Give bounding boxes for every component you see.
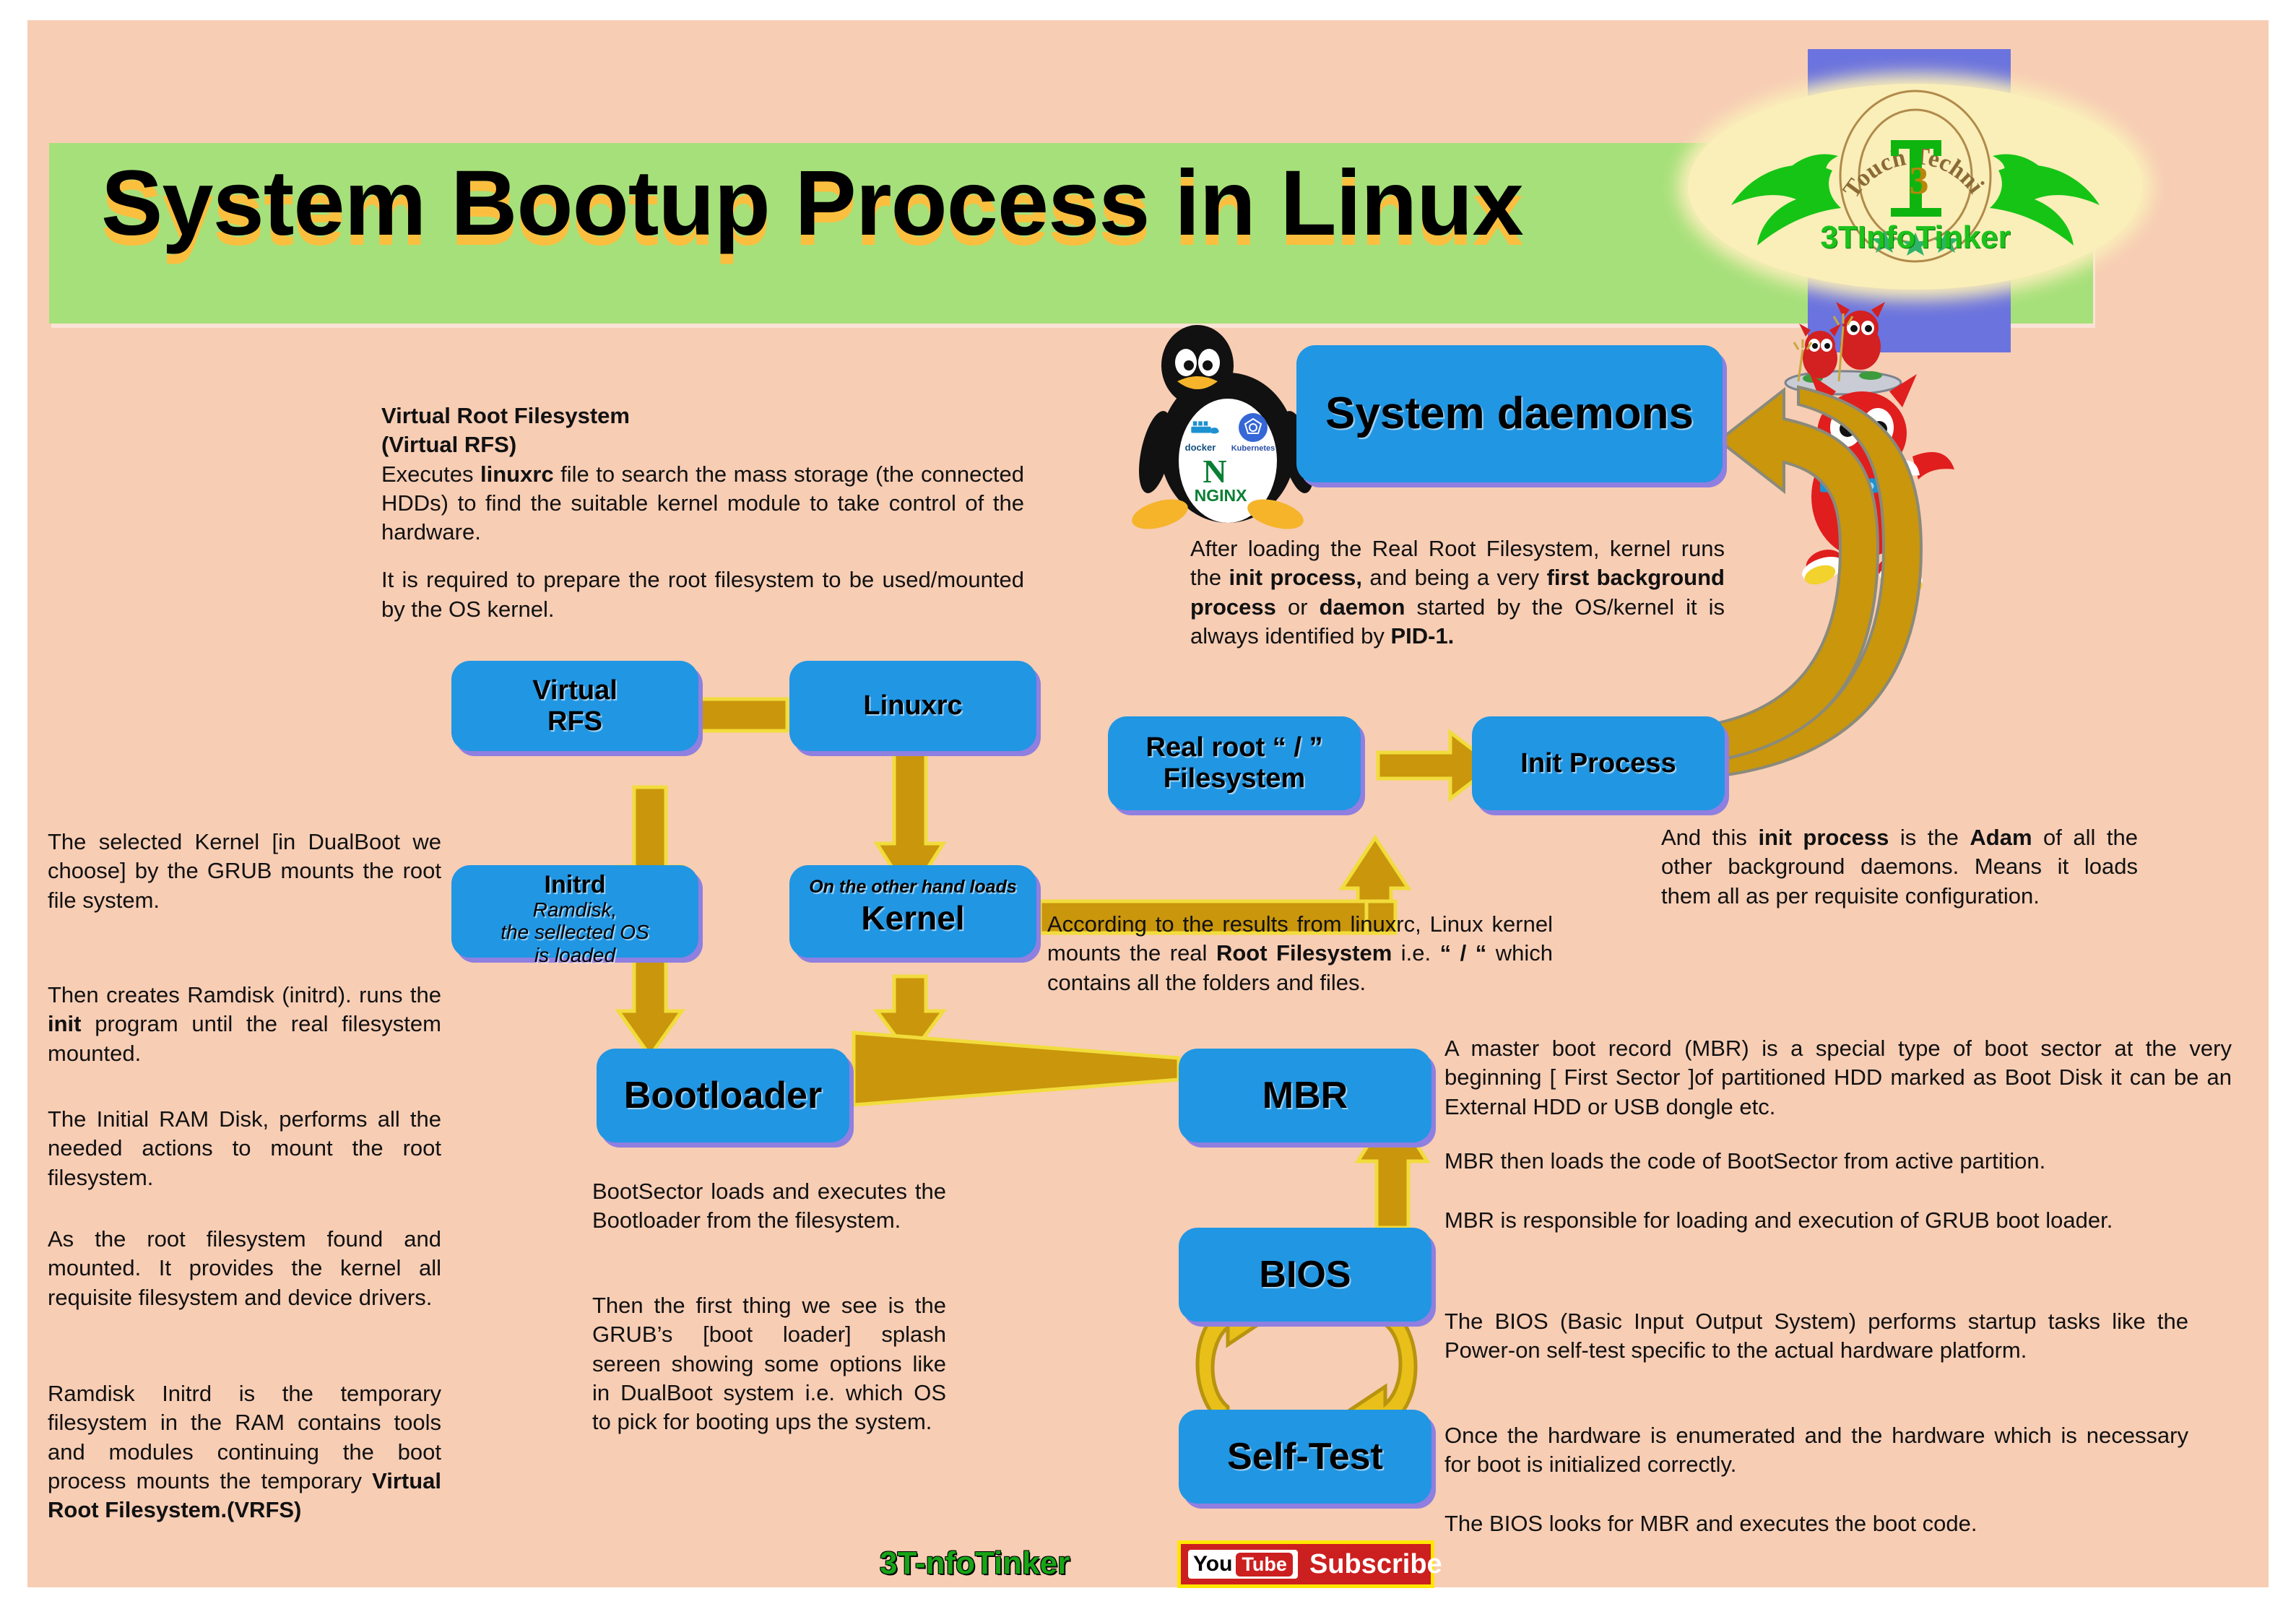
- youtube-tube-text: Tube: [1236, 1553, 1293, 1577]
- text-kernel-mounts-root: According to the results from linuxrc, L…: [1047, 910, 1553, 997]
- text-mbr-p2: MBR then loads the code of BootSector fr…: [1444, 1147, 2232, 1176]
- box-init-process[interactable]: Init Process: [1472, 716, 1725, 810]
- text-mbr-p3: MBR is responsible for loading and execu…: [1444, 1206, 2232, 1235]
- text-bios-p2: Once the hardware is enumerated and the …: [1444, 1421, 2188, 1480]
- nginx-label: NGINX: [1195, 486, 1248, 505]
- box-bios[interactable]: BIOS: [1179, 1228, 1431, 1322]
- logo-brand-text: 3TInfoTinker: [1688, 220, 2143, 256]
- svg-text:3: 3: [1910, 159, 1929, 202]
- text-bios-p3: The BIOS looks for MBR and executes the …: [1444, 1509, 2188, 1538]
- box-virtual-rfs-line1: Virtual: [532, 675, 618, 706]
- text-left-p2: Then creates Ramdisk (initrd). runs the …: [48, 981, 441, 1068]
- box-system-daemons-label: System daemons: [1325, 389, 1694, 438]
- text-vrfs-heading1: Virtual Root Filesystem: [381, 402, 1024, 430]
- box-mbr[interactable]: MBR: [1179, 1049, 1431, 1142]
- box-real-root-line1: Real root “ / ”: [1146, 732, 1323, 763]
- logo-emblem-icon: Tip Touch Techniques 3: [1688, 84, 2143, 290]
- text-mbr-p1: A master boot record (MBR) is a special …: [1444, 1034, 2232, 1122]
- text-left-p4: As the root filesystem found and mounted…: [48, 1225, 441, 1312]
- nginx-n-glyph: N: [1203, 453, 1226, 490]
- box-bootloader-label: Bootloader: [624, 1075, 822, 1116]
- box-bios-label: BIOS: [1259, 1254, 1351, 1296]
- box-self-test-label: Self-Test: [1227, 1436, 1383, 1478]
- youtube-subscribe-button[interactable]: You Tube Subscribe: [1177, 1540, 1434, 1588]
- box-kernel-label: Kernel: [861, 900, 964, 937]
- box-bootloader[interactable]: Bootloader: [597, 1049, 849, 1142]
- box-initrd-title: Initrd: [545, 871, 606, 898]
- text-left-p1: The selected Kernel [in DualBoot we choo…: [48, 828, 441, 915]
- tux-penguin-icon: docker Kubernetes N NGINX: [1134, 325, 1322, 527]
- box-virtual-rfs-line2: RFS: [547, 706, 602, 737]
- page-title: System Bootup Process in Linux: [101, 150, 1523, 256]
- youtube-logo-icon: You Tube: [1188, 1550, 1298, 1579]
- box-initrd-line1: Ramdisk,: [533, 898, 618, 921]
- text-vrfs-p1: Executes linuxrc file to search the mass…: [381, 460, 1024, 547]
- diagram-canvas: System Bootup Process in Linux System Bo…: [0, 0, 2296, 1622]
- box-kernel-caption: On the other hand loads: [809, 877, 1017, 897]
- box-self-test[interactable]: Self-Test: [1179, 1410, 1431, 1504]
- text-left-p3: The Initial RAM Disk, performs all the n…: [48, 1105, 441, 1192]
- box-linuxrc-label: Linuxrc: [863, 690, 962, 721]
- box-real-root-filesystem[interactable]: Real root “ / ” Filesystem: [1108, 716, 1361, 810]
- text-daemons-description: After loading the Real Root Filesystem, …: [1190, 534, 1725, 651]
- svg-text:Tip Touch Techniques: Tip Touch Techniques: [1680, 63, 1989, 203]
- box-initrd[interactable]: Initrd Ramdisk, the sellected OS is load…: [451, 865, 698, 958]
- text-vrfs-p2: It is required to prepare the root files…: [381, 565, 1024, 624]
- youtube-you-text: You: [1193, 1552, 1232, 1577]
- youtube-subscribe-label: Subscribe: [1309, 1549, 1442, 1580]
- text-bios-p1: The BIOS (Basic Input Output System) per…: [1444, 1307, 2188, 1366]
- text-vrfs-block: Virtual Root Filesystem (Virtual RFS) Ex…: [381, 402, 1024, 624]
- box-kernel[interactable]: On the other hand loads Kernel: [789, 865, 1036, 958]
- box-initrd-line3: is loaded: [534, 944, 615, 966]
- box-system-daemons[interactable]: System daemons: [1296, 345, 1723, 482]
- text-vrfs-heading2: (Virtual RFS): [381, 430, 1024, 459]
- text-bootsector-p2: Then the first thing we see is the GRUB’…: [592, 1291, 946, 1436]
- box-linuxrc[interactable]: Linuxrc: [789, 661, 1036, 751]
- box-init-process-label: Init Process: [1520, 748, 1676, 779]
- kubernetes-label: Kubernetes: [1231, 444, 1275, 453]
- text-left-p5: Ramdisk Initrd is the temporary filesyst…: [48, 1379, 441, 1525]
- box-initrd-line2: the sellected OS: [501, 921, 649, 943]
- footer-brand: 3T-nfoTinker: [880, 1545, 1070, 1582]
- text-bootsector-p1: BootSector loads and executes the Bootlo…: [592, 1177, 946, 1236]
- docker-label: docker: [1185, 442, 1216, 453]
- box-mbr-label: MBR: [1262, 1075, 1348, 1116]
- box-real-root-line2: Filesystem: [1164, 763, 1305, 794]
- box-virtual-rfs[interactable]: Virtual RFS: [451, 661, 698, 751]
- bsd-daemon-mascots-icon: [1733, 280, 1964, 627]
- text-init-process-description: And this init process is the Adam of all…: [1661, 823, 2138, 911]
- logo-badge: Tip Touch Techniques 3: [1688, 84, 2143, 290]
